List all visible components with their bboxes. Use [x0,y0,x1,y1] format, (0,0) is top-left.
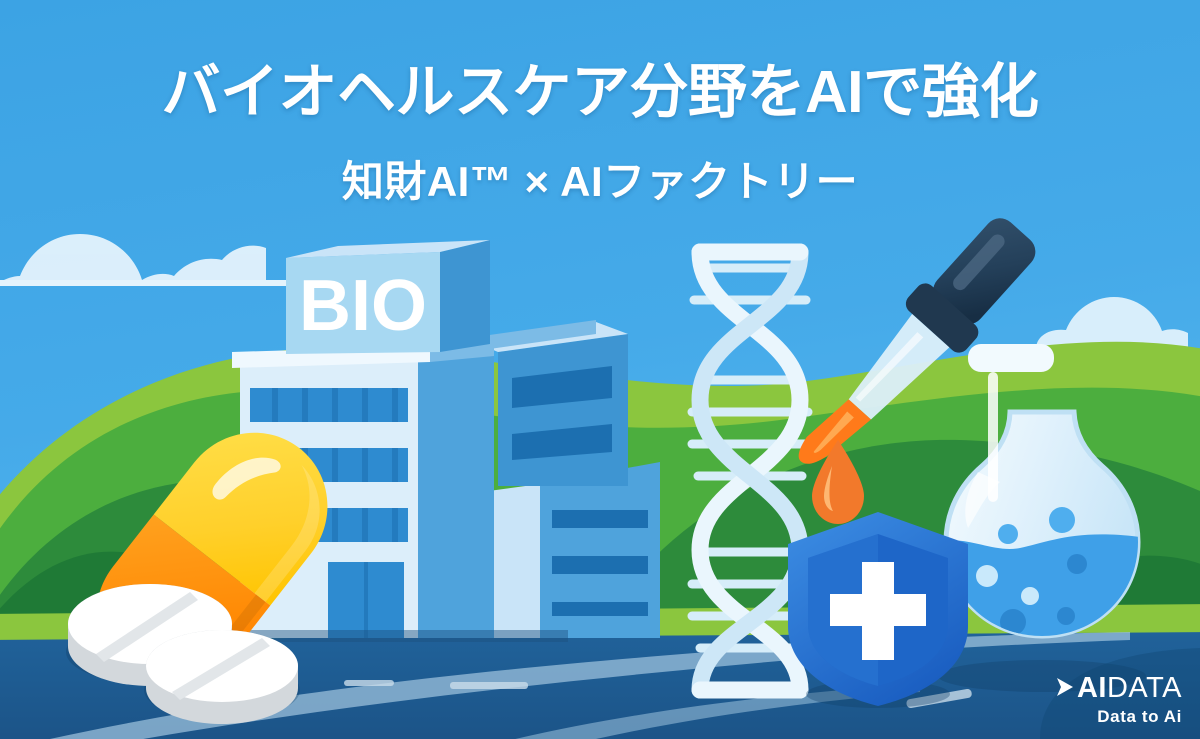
rear-block [498,334,628,486]
building-side [418,348,494,638]
flask-neck-rim [968,344,1054,372]
tablet-front [146,630,298,724]
scene-artwork: BIO [0,0,1200,739]
bio-sign: BIO [286,240,490,354]
bio-sign-text: BIO [299,266,427,346]
banner-illustration: BIO [0,0,1200,739]
